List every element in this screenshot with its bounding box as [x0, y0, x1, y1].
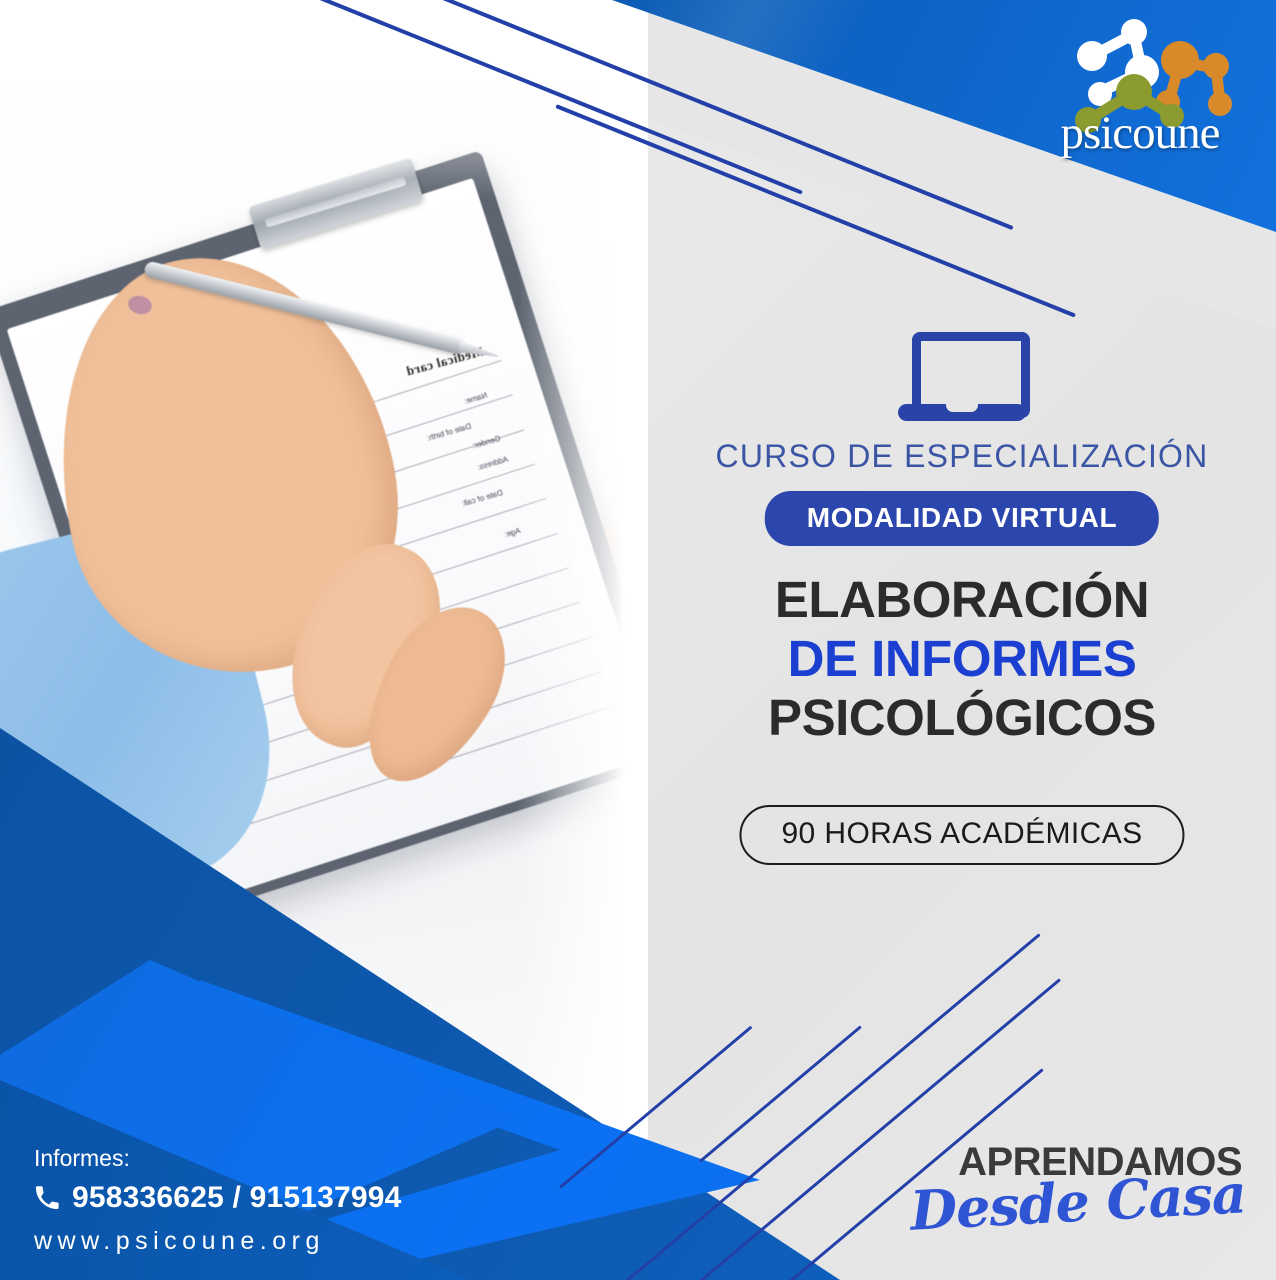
- brand-logo-text: psicoune: [1030, 106, 1250, 160]
- brand-logo[interactable]: psicoune: [1030, 14, 1250, 166]
- contact-website[interactable]: www.psicoune.org: [34, 1227, 464, 1256]
- hours-badge: 90 HORAS ACADÉMICAS: [739, 805, 1184, 865]
- modality-badge: MODALIDAD VIRTUAL: [765, 491, 1159, 546]
- title-line-2: DE INFORMES: [648, 629, 1276, 688]
- form-field-gender: Gender:: [472, 434, 502, 451]
- contact-label: Informes:: [34, 1145, 464, 1172]
- title-line-1: ELABORACIÓN: [648, 570, 1276, 629]
- form-field-dob: Date of birth:: [426, 422, 473, 443]
- course-kicker: CURSO DE ESPECIALIZACIÓN: [648, 438, 1276, 475]
- form-field-date-of-call: Date of call:: [461, 488, 504, 508]
- contact-phone-numbers: 958336625 / 915137994: [72, 1181, 402, 1215]
- laptop-icon-wrap: [648, 330, 1276, 431]
- laptop-notch: [946, 404, 978, 412]
- form-field-address: Address:: [476, 454, 509, 471]
- promo-poster: Medical card Name: Date of birth: Gender…: [0, 0, 1276, 1280]
- laptop-icon: [898, 330, 1026, 426]
- title-line-3: PSICOLÓGICOS: [648, 688, 1276, 747]
- slogan: APRENDAMOS Desde Casa: [916, 1140, 1246, 1246]
- phone-icon: [34, 1185, 60, 1211]
- content-column: psicoune CURSO DE ESPECIALIZACIÓN MODALI…: [648, 0, 1276, 1280]
- contact-block: Informes: 958336625 / 915137994 www.psic…: [34, 1145, 464, 1256]
- page-title: ELABORACIÓN DE INFORMES PSICOLÓGICOS: [648, 570, 1276, 747]
- contact-phone-row[interactable]: 958336625 / 915137994: [34, 1181, 464, 1215]
